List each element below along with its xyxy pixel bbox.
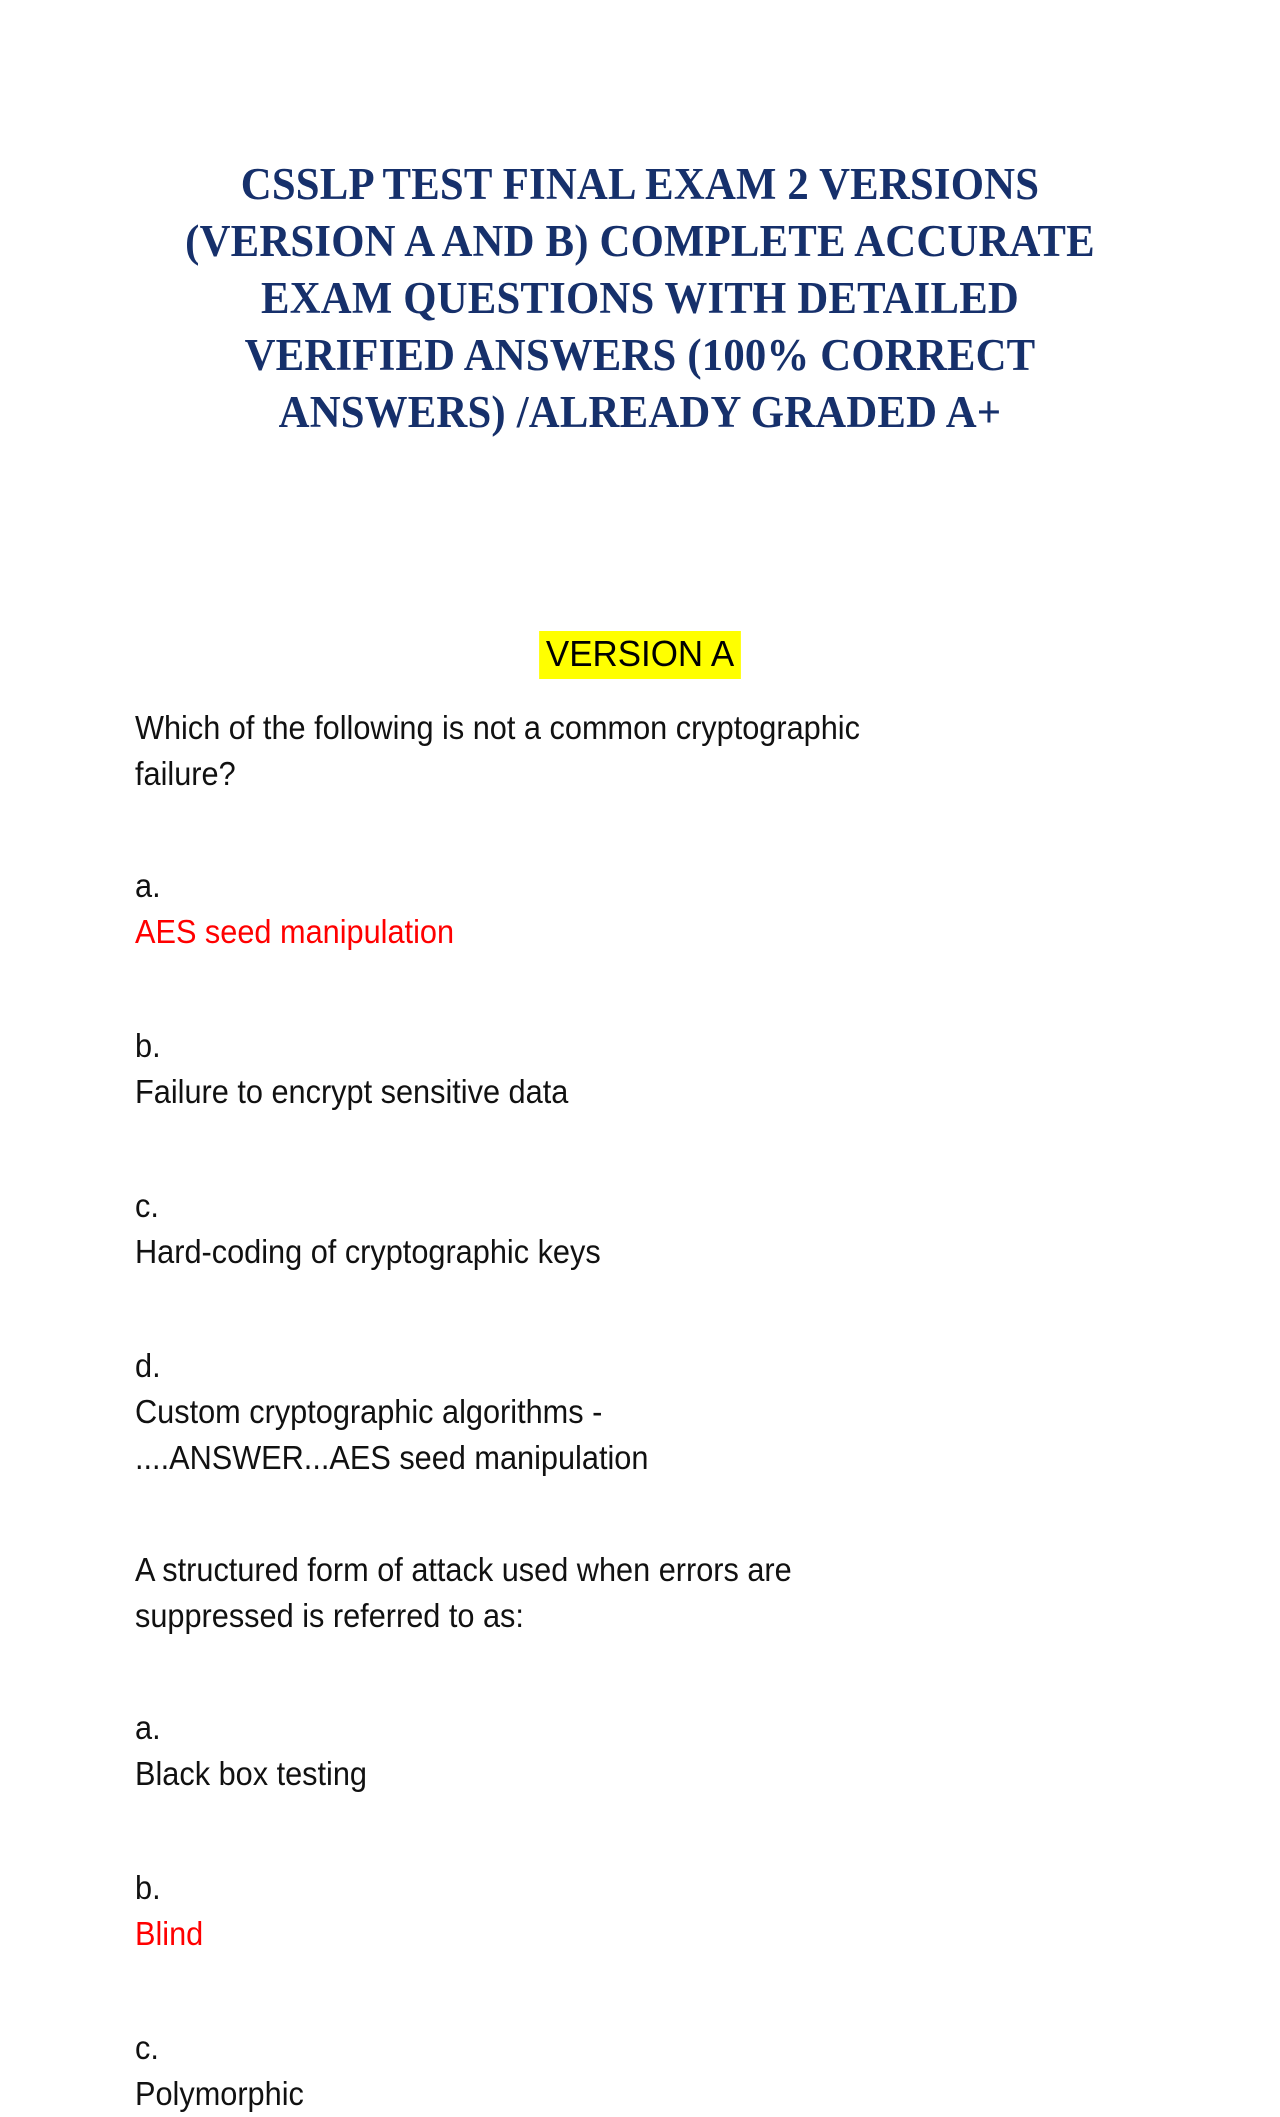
option-text: Failure to encrypt sensitive data <box>135 1073 568 1110</box>
document-page: CSSLP TEST FINAL EXAM 2 VERSIONS (VERSIO… <box>0 0 1280 1811</box>
version-banner: VERSION A <box>128 631 1152 679</box>
option-text: AES seed manipulation <box>135 913 454 950</box>
option-text: Custom cryptographic algorithms - ....AN… <box>135 1393 648 1476</box>
option-letter: a. <box>135 1709 161 1746</box>
question-block: A structured form of attack used when er… <box>135 1547 1015 2117</box>
answer-option[interactable]: b. Blind <box>135 1819 898 1957</box>
answer-option-with-answer-key[interactable]: d. Custom cryptographic algorithms - ...… <box>135 1297 898 1481</box>
option-letter: c. <box>135 1187 159 1224</box>
answer-option[interactable]: b. Failure to encrypt sensitive data <box>135 977 898 1115</box>
question-spacer <box>135 1481 1015 1547</box>
answer-option[interactable]: a. AES seed manipulation <box>135 817 898 955</box>
option-text: Hard-coding of cryptographic keys <box>135 1233 601 1270</box>
option-letter: b. <box>135 1027 161 1064</box>
option-letter: c. <box>135 2029 159 2066</box>
answer-option[interactable]: a. Black box testing <box>135 1659 898 1797</box>
answer-option[interactable]: c. Polymorphic <box>135 1979 898 2117</box>
option-letter: a. <box>135 867 161 904</box>
question-stem: A structured form of attack used when er… <box>135 1547 879 1639</box>
version-highlight-label: VERSION A <box>539 631 741 679</box>
exam-content: Which of the following is not a common c… <box>135 705 1015 2117</box>
question-stem: Which of the following is not a common c… <box>135 705 879 797</box>
option-letter: b. <box>135 1869 161 1906</box>
option-text: Blind <box>135 1915 203 1952</box>
option-text: Polymorphic <box>135 2075 304 2112</box>
answer-option[interactable]: c. Hard-coding of cryptographic keys <box>135 1137 898 1275</box>
option-letter: d. <box>135 1347 161 1384</box>
option-text: Black box testing <box>135 1755 367 1792</box>
page-title: CSSLP TEST FINAL EXAM 2 VERSIONS (VERSIO… <box>154 156 1127 441</box>
question-block: Which of the following is not a common c… <box>135 705 1015 1481</box>
